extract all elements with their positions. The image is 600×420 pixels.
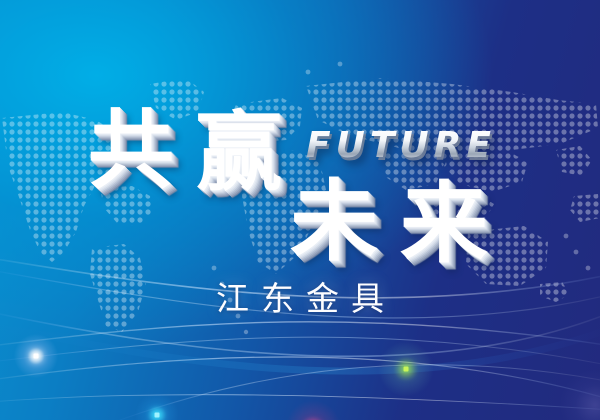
headline-line-2: 未 来 bbox=[0, 178, 600, 274]
banner-content: 共 赢 FUTURE 未 来 江东金具 bbox=[0, 0, 600, 420]
headline-char-wei: 未 bbox=[290, 178, 378, 266]
company-name: 江东金具 bbox=[0, 272, 600, 320]
headline-english: FUTURE bbox=[306, 128, 496, 164]
promotional-banner: 共 赢 FUTURE 未 来 江东金具 bbox=[0, 0, 600, 420]
headline-char-lai: 来 bbox=[400, 180, 488, 268]
